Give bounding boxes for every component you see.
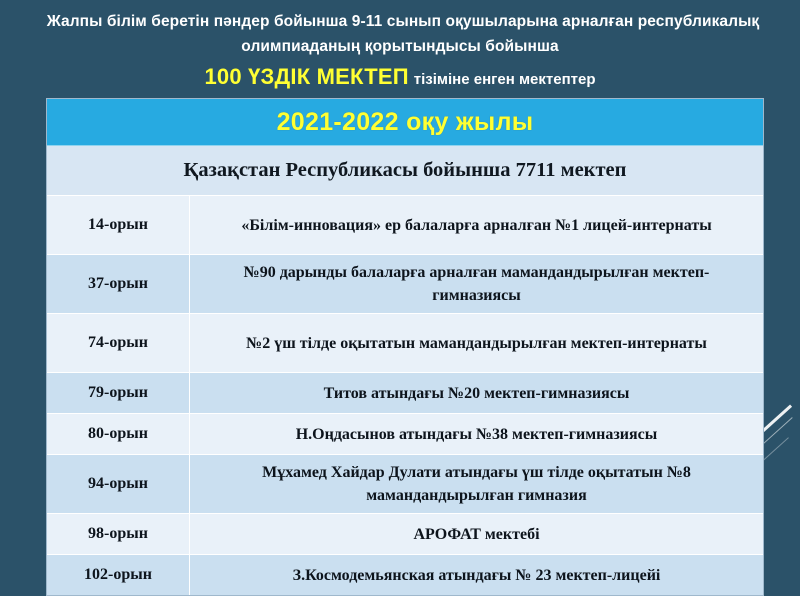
school-name-cell: №90 дарынды балаларға арналған маманданд…: [190, 255, 763, 313]
table-row: 94-орынМұхамед Хайдар Дулати атындағы үш…: [47, 455, 763, 514]
table-row: 14-орын«Білім-инновация» ер балаларға ар…: [47, 196, 763, 255]
table-row: 79-орынТитов атындағы №20 мектеп-гимнази…: [47, 373, 763, 414]
table-row: 37-орын№90 дарынды балаларға арналған ма…: [47, 255, 763, 314]
table-subtitle-label: Қазақстан Республикасы бойынша 7711 мект…: [184, 159, 627, 182]
schools-table: 2021-2022 оқу жылы Қазақстан Республикас…: [46, 98, 764, 596]
rank-cell: 74-орын: [47, 314, 190, 372]
rank-cell: 80-орын: [47, 414, 190, 454]
table-row: 98-орынАРОФАТ мектебі: [47, 514, 763, 555]
slide-header: Жалпы білім беретін пәндер бойынша 9-11 …: [0, 0, 800, 94]
school-name-cell: №2 үш тілде оқытатын мамандандырылған ме…: [190, 314, 763, 372]
school-name-cell: Титов атындағы №20 мектеп-гимназиясы: [190, 373, 763, 413]
table-row: 102-орынЗ.Космодемьянская атындағы № 23 …: [47, 555, 763, 595]
school-name-cell: «Білім-инновация» ер балаларға арналған …: [190, 196, 763, 254]
rank-cell: 98-орын: [47, 514, 190, 554]
rank-cell: 94-орын: [47, 455, 190, 513]
header-line-1: Жалпы білім беретін пәндер бойынша 9-11 …: [6, 9, 800, 34]
table-subtitle: Қазақстан Республикасы бойынша 7711 мект…: [47, 146, 763, 196]
academic-year-label: 2021-2022 оқу жылы: [277, 108, 534, 137]
rank-cell: 37-орын: [47, 255, 190, 313]
header-line-3: 100 ҮЗДІК МЕКТЕПтізіміне енген мектептер: [0, 63, 800, 94]
school-name-cell: З.Космодемьянская атындағы № 23 мектеп-л…: [190, 555, 763, 595]
table-row: 74-орын№2 үш тілде оқытатын мамандандыры…: [47, 314, 763, 373]
rank-cell: 102-орын: [47, 555, 190, 595]
header-tail: тізіміне енген мектептер: [414, 71, 596, 88]
school-name-cell: АРОФАТ мектебі: [190, 514, 763, 554]
school-name-cell: Н.Оңдасынов атындағы №38 мектеп-гимназия…: [190, 414, 763, 454]
table-body: 14-орын«Білім-инновация» ер балаларға ар…: [47, 196, 763, 595]
header-line-2: олимпиаданың қорытындысы бойынша: [0, 34, 800, 59]
academic-year-banner: 2021-2022 оқу жылы: [47, 99, 763, 146]
rank-cell: 14-орын: [47, 196, 190, 254]
school-name-cell: Мұхамед Хайдар Дулати атындағы үш тілде …: [190, 455, 763, 513]
table-row: 80-орынН.Оңдасынов атындағы №38 мектеп-г…: [47, 414, 763, 455]
header-highlight: 100 ҮЗДІК МЕКТЕП: [204, 64, 408, 89]
rank-cell: 79-орын: [47, 373, 190, 413]
